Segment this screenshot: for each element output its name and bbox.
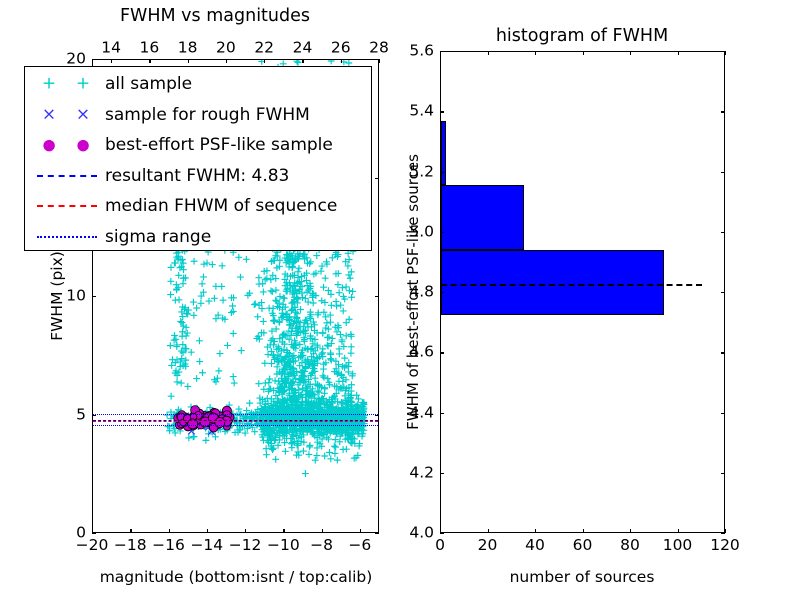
legend-item-label: median FHWM of sequence — [105, 196, 337, 216]
histogram-axes — [440, 51, 725, 533]
tick-mark — [583, 51, 584, 55]
right-y-tick-label: 4.2 — [409, 465, 434, 481]
tick-mark — [440, 232, 444, 233]
tick-mark — [535, 51, 536, 55]
top-axis-tick-label: 14 — [101, 41, 121, 57]
legend-item[interactable]: ××sample for rough FWHM — [31, 100, 371, 131]
tick-mark — [375, 59, 379, 60]
tick-mark — [226, 59, 227, 63]
resultant-fwhm-reference-line — [441, 284, 702, 286]
tick-mark — [440, 172, 444, 173]
tick-mark — [188, 59, 189, 63]
left-y-tick-label: 20 — [66, 51, 86, 67]
right-x-axis-label: number of sources — [510, 568, 655, 586]
legend: ++all sample××sample for rough FWHM●●bes… — [24, 66, 372, 251]
bottom-axis-tick-label: −6 — [348, 538, 371, 554]
tick-mark — [440, 533, 444, 534]
bottom-axis-tick-label: −20 — [76, 538, 109, 554]
tick-mark — [721, 51, 725, 52]
top-axis-tick-label: 16 — [140, 41, 160, 57]
right-x-tick-label: 80 — [620, 538, 640, 554]
tick-mark — [375, 415, 379, 416]
tick-mark — [535, 529, 536, 533]
legend-item-label: sigma range — [105, 227, 211, 247]
tick-mark — [583, 529, 584, 533]
tick-mark — [379, 59, 380, 63]
tick-mark — [375, 178, 379, 179]
tick-mark — [721, 292, 725, 293]
tick-mark — [725, 51, 726, 55]
tick-mark — [630, 51, 631, 55]
tick-mark — [322, 529, 323, 533]
right-x-tick-label: 20 — [478, 538, 498, 554]
right-x-tick-label: 40 — [525, 538, 545, 554]
top-axis-tick-label: 28 — [369, 41, 389, 57]
sigma-lower-line — [93, 425, 378, 426]
legend-item[interactable]: ●●best-effort PSF-like sample — [31, 130, 371, 161]
tick-mark — [375, 296, 379, 297]
histogram-bar — [441, 250, 664, 315]
tick-mark — [725, 529, 726, 533]
tick-mark — [630, 529, 631, 533]
tick-mark — [207, 529, 208, 533]
dot-marker: ● — [76, 138, 89, 153]
median-fwhm-line — [93, 421, 378, 422]
tick-mark — [440, 352, 444, 353]
right-y-tick-label: 5.4 — [409, 104, 434, 120]
figure-canvas: FWHM vs magnitudes 1416182022242628 0510… — [0, 0, 800, 600]
left-y-tick-label: 10 — [66, 288, 86, 304]
legend-item-label: all sample — [105, 74, 192, 94]
tick-mark — [302, 59, 303, 63]
tick-mark — [440, 51, 444, 52]
bottom-axis-tick-label: −10 — [267, 538, 300, 554]
bottom-axis-tick-label: −16 — [152, 538, 185, 554]
tick-mark — [92, 296, 96, 297]
right-x-tick-label: 100 — [663, 538, 693, 554]
left-x-axis-label: magnitude (bottom:isnt / top:calib) — [100, 568, 373, 586]
tick-mark — [721, 473, 725, 474]
bottom-axis-tick-label: −12 — [229, 538, 262, 554]
left-y-axis-label: FWHM (pix) — [48, 251, 66, 341]
tick-mark — [149, 59, 150, 63]
tick-mark — [92, 415, 96, 416]
dashed-line — [37, 175, 97, 177]
tick-mark — [92, 533, 96, 534]
bottom-axis-tick-label: −8 — [310, 538, 333, 554]
legend-item[interactable]: sigma range — [31, 222, 371, 253]
tick-mark — [111, 59, 112, 63]
tick-mark — [440, 413, 444, 414]
histogram-bar — [441, 121, 446, 186]
histogram-bar — [441, 185, 524, 250]
tick-mark — [440, 473, 444, 474]
tick-mark — [488, 529, 489, 533]
top-axis-tick-label: 22 — [254, 41, 274, 57]
tick-mark — [721, 232, 725, 233]
legend-item[interactable]: resultant FWHM: 4.83 — [31, 161, 371, 192]
tick-mark — [678, 51, 679, 55]
dashed-line — [37, 205, 97, 207]
tick-mark — [440, 111, 444, 112]
top-axis-tick-label: 26 — [331, 41, 351, 57]
tick-mark — [341, 59, 342, 63]
left-y-tick-label: 5 — [76, 407, 86, 423]
histogram-bars-layer — [441, 52, 724, 532]
tick-mark — [169, 529, 170, 533]
legend-item-label: resultant FWHM: 4.83 — [105, 166, 289, 186]
right-y-tick-label: 5.6 — [409, 43, 434, 59]
tick-mark — [130, 529, 131, 533]
right-x-tick-label: 120 — [710, 538, 740, 554]
right-x-tick-label: 60 — [573, 538, 593, 554]
cross-marker: × — [76, 106, 90, 123]
tick-mark — [488, 51, 489, 55]
tick-mark — [375, 533, 379, 534]
left-panel-title: FWHM vs magnitudes — [120, 6, 310, 26]
right-y-tick-label: 4.0 — [409, 525, 434, 541]
tick-mark — [440, 292, 444, 293]
tick-mark — [721, 111, 725, 112]
legend-item-label: best-effort PSF-like sample — [105, 135, 333, 155]
bottom-axis-tick-label: −14 — [190, 538, 223, 554]
resultant-fwhm-line — [93, 420, 378, 421]
sigma-upper-line — [93, 414, 378, 415]
tick-mark — [721, 413, 725, 414]
top-axis-tick-label: 24 — [293, 41, 313, 57]
tick-mark — [264, 59, 265, 63]
tick-mark — [721, 172, 725, 173]
top-axis-tick-label: 18 — [178, 41, 198, 57]
bottom-axis-tick-label: −18 — [114, 538, 147, 554]
dashdot-line — [37, 236, 97, 238]
cross-marker: × — [42, 106, 56, 123]
right-x-tick-label: 0 — [435, 538, 445, 554]
top-axis-tick-label: 20 — [216, 41, 236, 57]
legend-item[interactable]: median FHWM of sequence — [31, 191, 371, 222]
right-y-axis-label: FWHM of best-effort PSF-like sources — [404, 154, 422, 430]
tick-mark — [283, 529, 284, 533]
tick-mark — [721, 352, 725, 353]
tick-mark — [360, 529, 361, 533]
legend-item-label: sample for rough FWHM — [105, 105, 310, 125]
tick-mark — [92, 59, 96, 60]
dot-marker: ● — [42, 138, 55, 153]
right-panel-title: histogram of FWHM — [496, 26, 668, 46]
plus-marker: + — [76, 76, 90, 93]
tick-mark — [721, 533, 725, 534]
tick-mark — [245, 529, 246, 533]
tick-mark — [678, 529, 679, 533]
plus-marker: + — [42, 76, 56, 93]
legend-item[interactable]: ++all sample — [31, 69, 371, 100]
